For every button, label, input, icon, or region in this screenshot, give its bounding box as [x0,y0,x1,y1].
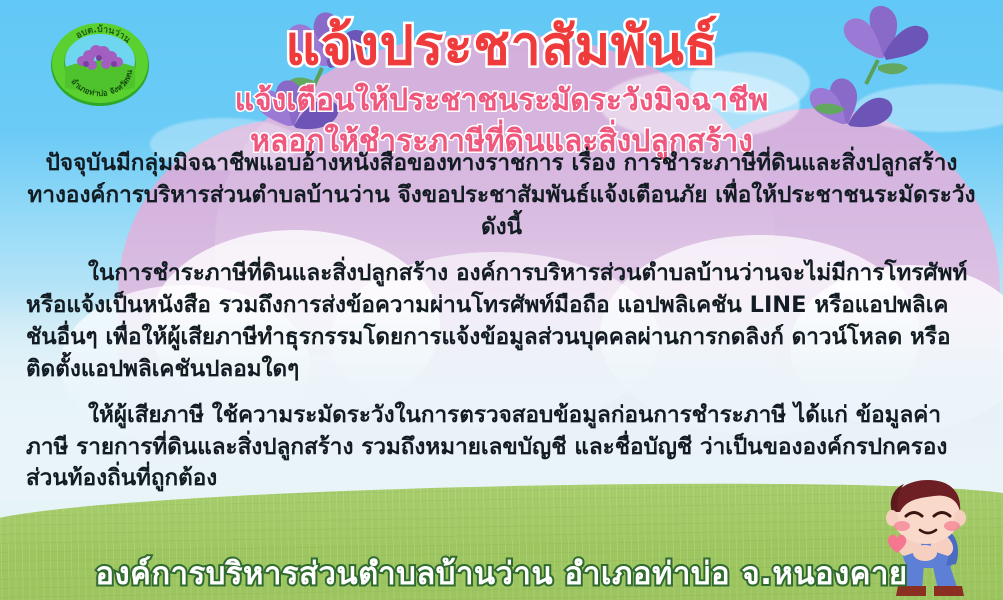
paragraph-3: ให้ผู้เสียภาษี ใช้ความระมัดระวังในการตรว… [26,400,977,496]
paragraph-1: ปัจจุบันมีกลุ่มมิจฉาชีพแอบอ้างหนังสือของ… [26,148,977,244]
announcement-body: ปัจจุบันมีกลุ่มมิจฉาชีพแอบอ้างหนังสือของ… [26,148,977,509]
paragraph-2: ในการชำระภาษีที่ดินและสิ่งปลูกสร้าง องค์… [26,258,977,386]
announcement-poster: อบต.บ้านว่าน อำเภอท่าบ่อ จังหวัดหนองคาย … [0,0,1003,600]
subtitle-line-1: แจ้งเตือนให้ประชาชนระมัดระวังมิจฉาชีพ [0,80,1003,121]
poster-title: แจ้งประชาสัมพันธ์ [0,18,1003,75]
footer-organization: องค์การบริหารส่วนตำบลบ้านว่าน อำเภอท่าบ่… [0,548,1003,598]
